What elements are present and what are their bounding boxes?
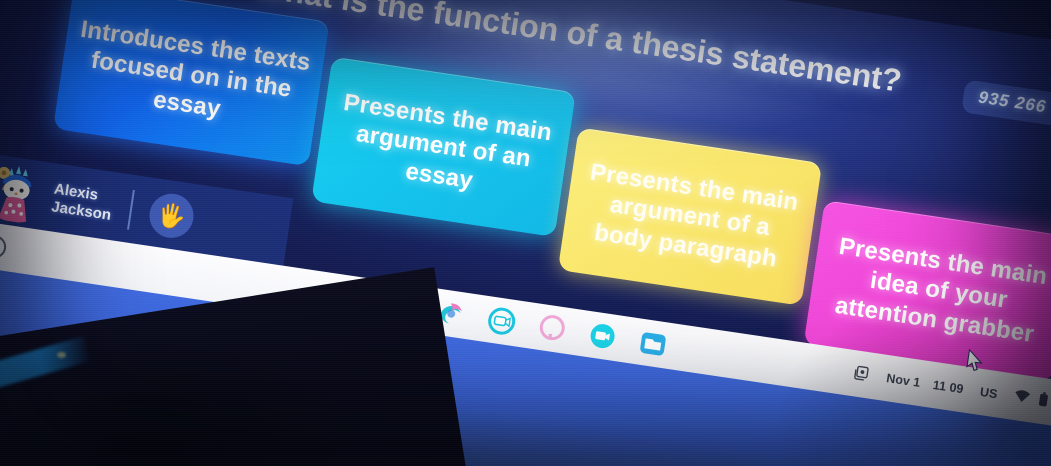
teams-icon[interactable] <box>485 304 519 338</box>
score-badge: 935 266 <box>961 79 1051 126</box>
camera-icon[interactable] <box>586 319 620 353</box>
answer-option-2[interactable]: Presents the main argument of an essay <box>311 57 576 237</box>
answer-label: Presents the main argument of a body par… <box>574 157 806 276</box>
tray-status-icons <box>1013 388 1049 411</box>
screenshot-icon[interactable] <box>851 363 871 385</box>
chat-bubble-icon[interactable] <box>535 312 569 346</box>
tray-date: Nov 1 <box>885 371 921 390</box>
answer-label: Presents the main argument of an essay <box>327 87 559 206</box>
answer-option-3[interactable]: Presents the main argument of a body par… <box>558 127 822 305</box>
tray-time: 11 09 <box>932 378 964 396</box>
answer-option-1[interactable]: Introduces the texts focused on in the e… <box>53 0 330 166</box>
raise-hand-button[interactable]: 🖐 <box>147 191 197 241</box>
answer-label: Introduces the texts focused on in the e… <box>69 15 313 136</box>
wifi-icon[interactable] <box>1013 389 1031 407</box>
file-explorer-icon[interactable] <box>636 326 670 360</box>
language-indicator[interactable]: US <box>979 385 998 401</box>
start-circle-icon[interactable] <box>0 233 8 259</box>
divider <box>127 190 135 230</box>
screenshot-root: 935 266 What is the function of a thesis… <box>0 0 1051 466</box>
clock-area[interactable]: Nov 1 11 09 <box>885 371 964 396</box>
battery-icon[interactable] <box>1038 392 1050 411</box>
raised-hand-icon: 🖐 <box>156 202 188 229</box>
avatar <box>0 160 45 225</box>
participant-name: Alexis Jackson <box>50 180 115 224</box>
answer-label: Presents the main idea of your attention… <box>820 231 1051 351</box>
desk-speck <box>57 352 66 358</box>
